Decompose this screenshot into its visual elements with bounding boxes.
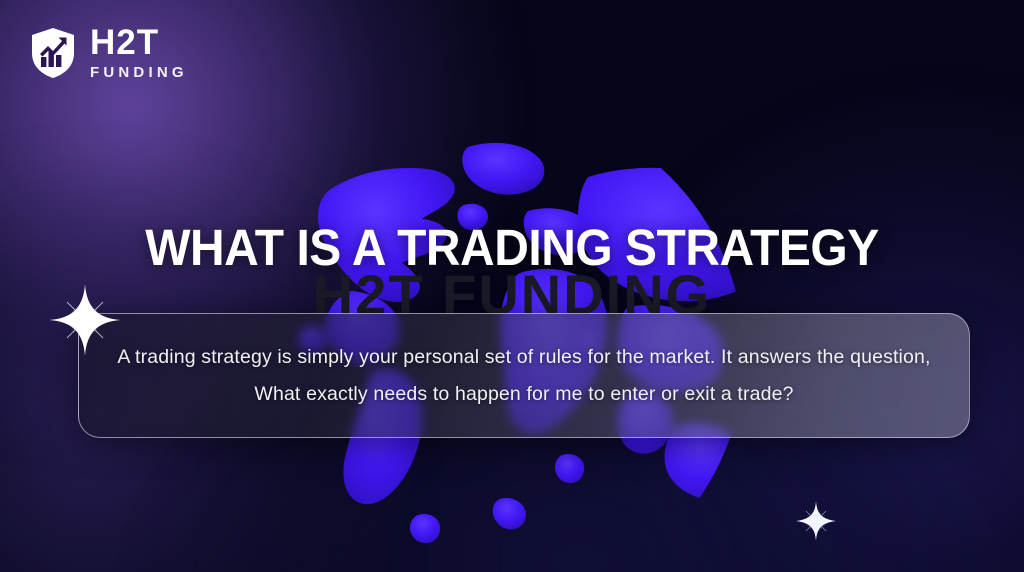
info-card-body: A trading strategy is simply your person…	[79, 339, 969, 412]
sparkle-star-icon	[795, 500, 837, 542]
brand-name-primary: H2T	[90, 26, 188, 60]
page-title: WHAT IS A TRADING STRATEGY	[31, 218, 994, 277]
brand-name-secondary: FUNDING	[90, 65, 188, 80]
slide-canvas: H2T FUNDING H2T FUNDING WHAT IS A TRADIN…	[0, 0, 1024, 572]
shield-growth-chart-icon	[30, 27, 76, 79]
brand-logo: H2T FUNDING	[30, 26, 188, 80]
brand-logo-text: H2T FUNDING	[90, 26, 188, 80]
info-card: A trading strategy is simply your person…	[78, 313, 970, 438]
